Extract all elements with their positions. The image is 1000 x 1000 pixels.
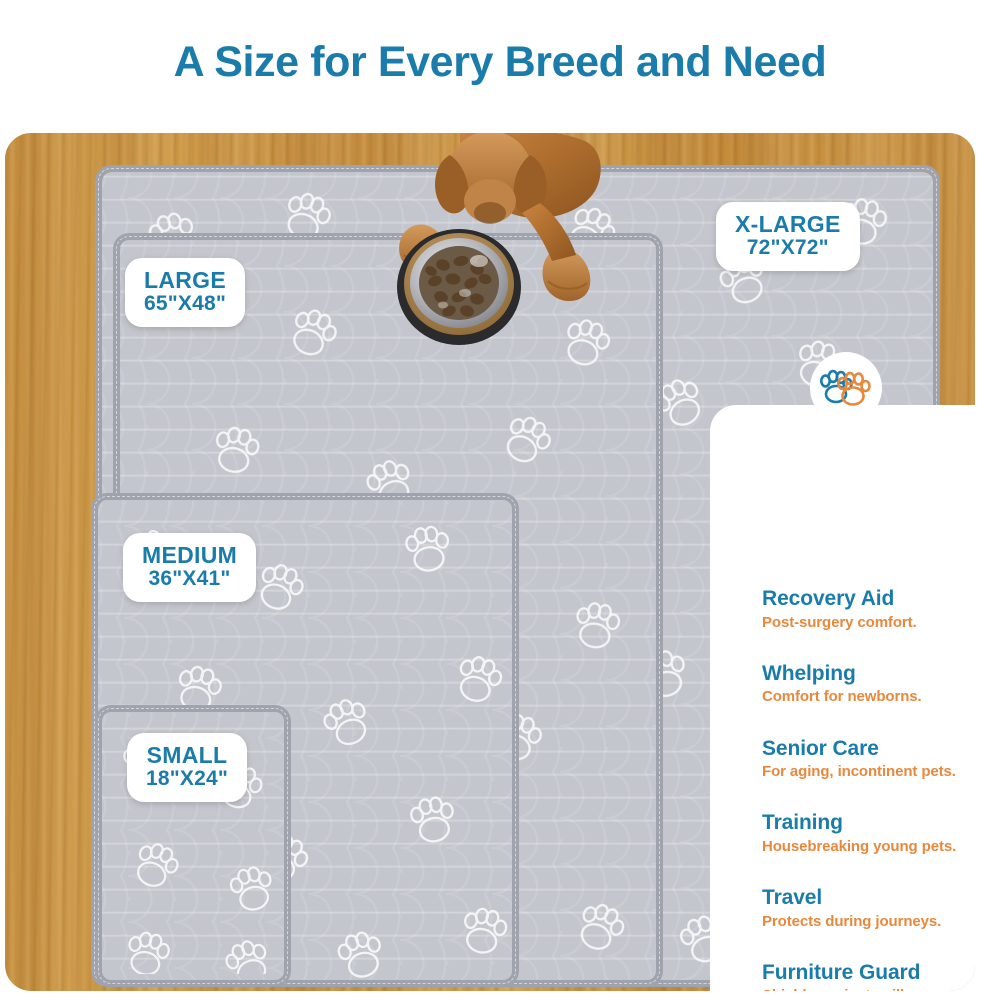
two-paw-prints-icon <box>820 366 872 410</box>
page-title: A Size for Every Breed and Need <box>174 38 827 87</box>
feature-description: Protects during journeys. <box>762 913 975 930</box>
feature-item-travel: Travel Protects during journeys. <box>762 886 975 930</box>
size-dimensions: 72"X72" <box>735 237 841 258</box>
size-badge-medium[interactable]: MEDIUM 36"X41" <box>123 533 256 602</box>
size-name: X-LARGE <box>735 213 841 236</box>
feature-list: Recovery Aid Post-surgery comfort. Whelp… <box>762 587 975 991</box>
feature-title: Whelping <box>762 662 975 686</box>
size-name: LARGE <box>144 269 226 292</box>
size-dimensions: 36"X41" <box>142 568 237 589</box>
product-photo-card: X-LARGE 72"X72" LARGE 65"X48" MEDIUM 36"… <box>5 133 975 991</box>
feature-panel: Recovery Aid Post-surgery comfort. Whelp… <box>710 405 975 991</box>
feature-title: Training <box>762 811 975 835</box>
size-name: SMALL <box>146 744 228 767</box>
size-dimensions: 65"X48" <box>144 293 226 314</box>
feature-description: Housebreaking young pets. <box>762 838 975 855</box>
food-bowl-image <box>395 221 523 346</box>
size-badge-small[interactable]: SMALL 18"X24" <box>127 733 247 802</box>
brand-logo <box>810 352 882 424</box>
feature-description: Shields against spills. <box>762 987 975 991</box>
feature-description: Post-surgery comfort. <box>762 614 975 631</box>
feature-title: Furniture Guard <box>762 961 975 985</box>
feature-title: Travel <box>762 886 975 910</box>
feature-item-recovery-aid: Recovery Aid Post-surgery comfort. <box>762 587 975 631</box>
feature-title: Recovery Aid <box>762 587 975 611</box>
feature-title: Senior Care <box>762 737 975 761</box>
feature-item-training: Training Housebreaking young pets. <box>762 811 975 855</box>
size-dimensions: 18"X24" <box>146 768 228 789</box>
feature-item-whelping: Whelping Comfort for newborns. <box>762 662 975 706</box>
feature-item-furniture-guard: Furniture Guard Shields against spills. <box>762 961 975 991</box>
size-badge-xlarge[interactable]: X-LARGE 72"X72" <box>716 202 860 271</box>
header-bar: A Size for Every Breed and Need <box>0 0 1000 125</box>
feature-description: For aging, incontinent pets. <box>762 763 975 780</box>
size-badge-large[interactable]: LARGE 65"X48" <box>125 258 245 327</box>
feature-item-senior-care: Senior Care For aging, incontinent pets. <box>762 737 975 781</box>
feature-description: Comfort for newborns. <box>762 688 975 705</box>
size-name: MEDIUM <box>142 544 237 567</box>
